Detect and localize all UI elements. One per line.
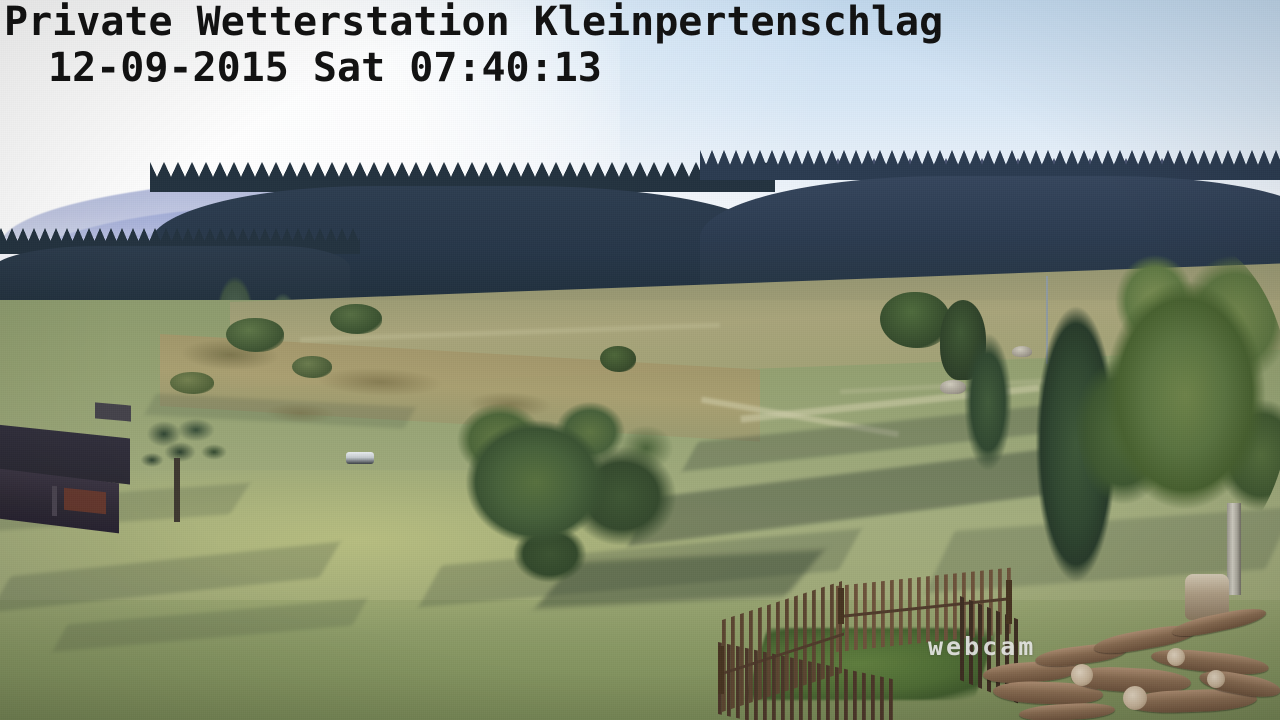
heath-bush-2 [330, 304, 382, 334]
barn-post [52, 486, 57, 516]
timestamp: 12-09-2015 Sat 07:40:13 [48, 48, 1280, 88]
webcam-image: Private Wetterstation Kleinpertenschlag … [0, 0, 1280, 720]
log-cut-end [1123, 686, 1147, 710]
heath-bush-4 [170, 372, 214, 394]
mid-conifer [960, 312, 1016, 482]
conifer-canopy [960, 312, 1016, 482]
log-cut-end [1071, 664, 1093, 686]
right-deciduous-tree [1075, 235, 1280, 605]
water-trough [346, 452, 374, 464]
log-cut-end [1207, 670, 1225, 688]
center-meadow-tree [440, 378, 690, 593]
heath-bush-1 [226, 318, 284, 352]
birch-trunk [1227, 503, 1241, 595]
small-shed [95, 402, 131, 421]
tree-canopy [1075, 235, 1280, 565]
webcam-watermark: webcam [928, 632, 1036, 661]
log-cut-end [1167, 648, 1185, 666]
station-title: Private Wetterstation Kleinpertenschlag [4, 2, 1280, 42]
log [1170, 604, 1267, 641]
tree-canopy [130, 412, 240, 492]
tree-canopy [440, 378, 690, 593]
fence-post-3 [718, 646, 724, 694]
tree-trunk [174, 458, 180, 522]
tree-near-barn [130, 412, 240, 522]
wooden-barn [0, 424, 137, 518]
barn-door [64, 488, 106, 514]
log [1019, 701, 1116, 720]
meadow-bush-5 [600, 346, 636, 372]
fence-post-1 [838, 588, 844, 624]
heath-bush-3 [292, 356, 332, 378]
